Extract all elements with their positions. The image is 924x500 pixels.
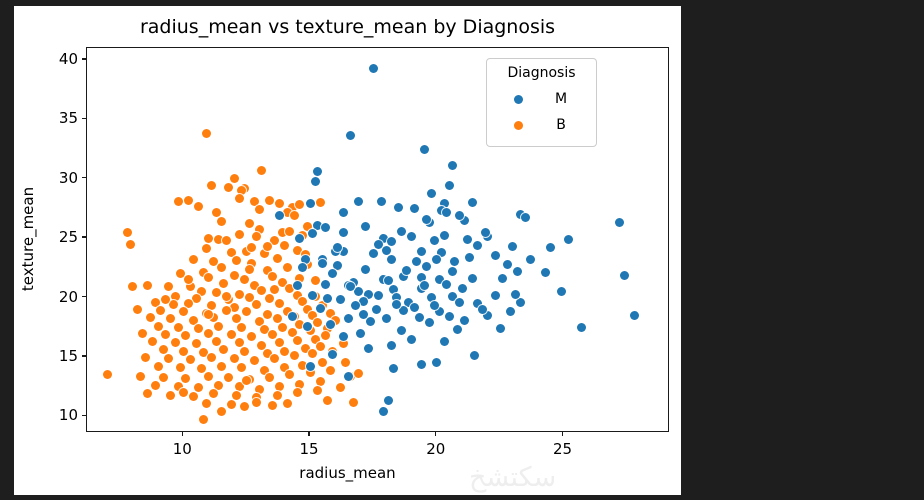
data-point-b (232, 314, 241, 323)
data-point-b (295, 200, 304, 209)
data-point-b (181, 374, 190, 383)
data-point-m (364, 344, 373, 353)
y-tick-label: 20 (59, 288, 78, 306)
data-point-m (526, 255, 535, 264)
data-point-m (453, 325, 462, 334)
data-point-m (387, 237, 396, 246)
data-point-m (328, 269, 337, 278)
data-point-m (442, 208, 451, 217)
data-point-b (230, 271, 239, 280)
data-point-b (270, 354, 279, 363)
data-point-b (166, 391, 175, 400)
data-point-m (577, 323, 586, 332)
data-point-m (298, 263, 307, 272)
data-point-b (169, 300, 178, 309)
data-point-m (359, 310, 368, 319)
x-axis-label: radius_mean (14, 464, 681, 482)
x-tick-mark (182, 432, 183, 436)
data-point-m (420, 281, 429, 290)
data-point-m (399, 306, 408, 315)
data-point-m (387, 341, 396, 350)
y-tick-mark (82, 58, 86, 59)
data-point-m (455, 298, 464, 307)
data-point-m (521, 213, 530, 222)
data-point-m (513, 267, 522, 276)
data-point-b (204, 234, 213, 243)
data-point-b (143, 389, 152, 398)
data-point-m (293, 281, 302, 290)
data-point-b (194, 383, 203, 392)
data-point-b (212, 208, 221, 217)
y-tick-label: 10 (59, 406, 78, 424)
data-point-b (192, 339, 201, 348)
data-point-m (321, 223, 330, 232)
data-point-m (463, 235, 472, 244)
y-tick-label: 35 (59, 109, 78, 127)
data-point-b (278, 323, 287, 332)
data-point-b (222, 306, 231, 315)
data-point-m (420, 145, 429, 154)
matplotlib-figure: radius_mean vs texture_mean by Diagnosis… (14, 6, 681, 495)
data-point-b (164, 282, 173, 291)
data-point-b (227, 330, 236, 339)
data-point-b (174, 197, 183, 206)
data-point-m (478, 305, 487, 314)
data-point-m (448, 161, 457, 170)
data-point-b (280, 241, 289, 250)
data-point-b (235, 338, 244, 347)
data-point-b (151, 381, 160, 390)
data-point-b (326, 366, 335, 375)
data-point-b (217, 263, 226, 272)
screenshot-root: radius_mean vs texture_mean by Diagnosis… (0, 0, 924, 500)
data-point-m (295, 234, 304, 243)
data-point-b (146, 313, 155, 322)
data-point-m (339, 332, 348, 341)
data-point-m (382, 314, 391, 323)
data-point-b (321, 331, 330, 340)
data-point-b (275, 338, 284, 347)
legend-entry-b[interactable]: B (495, 112, 588, 138)
data-point-b (156, 306, 165, 315)
data-point-m (615, 218, 624, 227)
data-point-m (422, 262, 431, 271)
data-point-m (394, 203, 403, 212)
data-point-b (164, 354, 173, 363)
data-point-b (133, 305, 142, 314)
data-point-b (212, 337, 221, 346)
data-point-m (422, 215, 431, 224)
y-tick-mark (82, 355, 86, 356)
legend-label: B (541, 117, 581, 133)
data-point-m (346, 131, 355, 140)
data-point-b (235, 290, 244, 299)
data-point-m (511, 290, 520, 299)
data-point-b (189, 392, 198, 401)
data-point-b (283, 399, 292, 408)
data-point-b (242, 307, 251, 316)
y-tick-mark (82, 415, 86, 416)
data-point-m (498, 274, 507, 283)
data-point-b (308, 349, 317, 358)
data-point-m (351, 301, 360, 310)
data-point-b (237, 323, 246, 332)
data-point-b (250, 356, 259, 365)
data-point-b (247, 332, 256, 341)
data-point-b (285, 227, 294, 236)
data-point-m (425, 318, 434, 327)
legend-swatch-wrap (495, 95, 541, 104)
data-point-m (339, 208, 348, 217)
data-point-b (252, 398, 261, 407)
data-point-b (143, 281, 152, 290)
data-point-m (407, 232, 416, 241)
legend-title: Diagnosis (495, 65, 588, 81)
data-point-m (620, 271, 629, 280)
data-point-b (240, 275, 249, 284)
data-point-b (204, 372, 213, 381)
data-point-b (257, 166, 266, 175)
data-point-m (440, 337, 449, 346)
data-point-m (450, 257, 459, 266)
data-point-m (356, 329, 365, 338)
data-point-b (207, 353, 216, 362)
data-point-b (257, 286, 266, 295)
data-point-m (448, 267, 457, 276)
data-point-m (410, 303, 419, 312)
data-point-m (379, 407, 388, 416)
data-point-b (270, 285, 279, 294)
data-point-b (194, 202, 203, 211)
data-point-m (354, 287, 363, 296)
data-point-b (212, 288, 221, 297)
data-point-m (366, 317, 375, 326)
data-point-b (232, 256, 241, 265)
data-point-m (412, 257, 421, 266)
data-point-b (154, 362, 163, 371)
y-axis-label: texture_mean (19, 187, 37, 291)
data-point-b (263, 310, 272, 319)
data-point-m (465, 253, 474, 262)
data-point-m (344, 372, 353, 381)
data-point-b (179, 388, 188, 397)
data-point-m (415, 313, 424, 322)
data-point-b (176, 363, 185, 372)
data-point-b (197, 364, 206, 373)
data-point-m (308, 229, 317, 238)
data-point-b (136, 372, 145, 381)
data-point-m (316, 304, 325, 313)
x-tick-label: 10 (173, 440, 192, 458)
data-point-m (369, 64, 378, 73)
data-point-b (194, 324, 203, 333)
data-point-b (202, 244, 211, 253)
data-point-b (313, 386, 322, 395)
data-point-b (252, 232, 261, 241)
data-point-b (290, 211, 299, 220)
data-point-b (214, 322, 223, 331)
data-point-m (336, 295, 345, 304)
data-point-b (252, 300, 261, 309)
data-point-b (171, 338, 180, 347)
data-point-m (541, 268, 550, 277)
data-point-m (460, 316, 469, 325)
data-point-m (306, 199, 315, 208)
y-tick-mark (82, 296, 86, 297)
data-point-m (361, 222, 370, 231)
data-point-b (204, 310, 213, 319)
data-point-b (123, 228, 132, 237)
data-point-b (275, 299, 284, 308)
data-point-b (245, 219, 254, 228)
data-point-m (397, 326, 406, 335)
data-point-b (159, 373, 168, 382)
data-point-b (268, 272, 277, 281)
chart-title: radius_mean vs texture_mean by Diagnosis (14, 16, 681, 38)
data-point-b (316, 342, 325, 351)
data-point-b (174, 323, 183, 332)
data-point-m (440, 231, 449, 240)
data-point-m (557, 287, 566, 296)
data-point-m (430, 236, 439, 245)
data-point-m (432, 255, 441, 264)
data-point-m (481, 228, 490, 237)
data-point-b (263, 242, 272, 251)
data-point-m (491, 291, 500, 300)
data-point-m (473, 241, 482, 250)
data-point-b (235, 194, 244, 203)
data-point-m (392, 300, 401, 309)
data-point-m (546, 243, 555, 252)
data-point-b (204, 329, 213, 338)
data-point-b (161, 330, 170, 339)
data-point-b (349, 398, 358, 407)
x-tick-mark (435, 432, 436, 436)
data-point-b (313, 318, 322, 327)
data-point-b (217, 362, 226, 371)
data-point-m (442, 280, 451, 289)
data-point-b (181, 331, 190, 340)
data-point-m (318, 259, 327, 268)
data-point-b (268, 330, 277, 339)
data-point-m (427, 189, 436, 198)
data-point-b (217, 217, 226, 226)
data-point-b (275, 382, 284, 391)
data-point-m (402, 266, 411, 275)
data-point-m (384, 396, 393, 405)
data-point-m (516, 298, 525, 307)
data-point-b (224, 183, 233, 192)
watermark-text: سكتشخ (469, 462, 556, 493)
data-point-m (564, 235, 573, 244)
x-tick-label: 15 (300, 440, 319, 458)
y-tick-label: 40 (59, 50, 78, 68)
data-point-m (361, 265, 370, 274)
data-point-m (445, 312, 454, 321)
data-point-b (273, 314, 282, 323)
data-point-m (503, 260, 512, 269)
data-point-m (432, 358, 441, 367)
data-point-b (184, 196, 193, 205)
legend-swatch-wrap (495, 121, 541, 130)
data-point-b (323, 396, 332, 405)
data-point-m (468, 198, 477, 207)
data-point-m (417, 360, 426, 369)
legend-marker-icon (514, 121, 523, 130)
data-point-b (235, 230, 244, 239)
data-point-b (336, 383, 345, 392)
data-point-m (311, 177, 320, 186)
data-point-m (630, 311, 639, 320)
data-point-b (341, 358, 350, 367)
legend-entries: MB (495, 86, 588, 138)
data-point-b (128, 282, 137, 291)
y-tick-mark (82, 118, 86, 119)
data-point-m (496, 324, 505, 333)
y-tick-label: 25 (59, 228, 78, 246)
data-point-m (354, 197, 363, 206)
data-point-b (202, 129, 211, 138)
y-tick-mark (82, 177, 86, 178)
data-point-m (321, 280, 330, 289)
data-point-m (468, 274, 477, 283)
data-point-b (179, 307, 188, 316)
data-point-m (275, 211, 284, 220)
data-point-b (293, 388, 302, 397)
x-tick-label: 25 (553, 440, 572, 458)
data-point-b (202, 399, 211, 408)
data-point-b (240, 402, 249, 411)
chart-legend[interactable]: Diagnosis MB (486, 58, 597, 147)
data-point-m (387, 255, 396, 264)
data-point-m (306, 362, 315, 371)
data-point-m (506, 307, 515, 316)
data-point-m (417, 247, 426, 256)
data-point-m (389, 364, 398, 373)
data-point-b (273, 254, 282, 263)
data-point-b (222, 292, 231, 301)
data-point-b (126, 240, 135, 249)
data-point-b (103, 370, 112, 379)
data-point-m (445, 181, 454, 190)
data-point-b (148, 337, 157, 346)
data-point-b (285, 370, 294, 379)
data-point-m (374, 291, 383, 300)
data-point-b (265, 373, 274, 382)
data-point-m (369, 249, 378, 258)
data-point-m (344, 314, 353, 323)
data-point-m (377, 197, 386, 206)
data-point-b (199, 415, 208, 424)
data-point-m (410, 204, 419, 213)
data-point-b (154, 322, 163, 331)
data-point-m (382, 246, 391, 255)
data-point-b (219, 279, 228, 288)
data-point-b (275, 199, 284, 208)
data-point-b (265, 294, 274, 303)
data-point-b (141, 353, 150, 362)
y-tick-label: 30 (59, 169, 78, 187)
data-point-m (323, 294, 332, 303)
data-point-b (255, 205, 264, 214)
data-point-b (245, 265, 254, 274)
data-point-m (508, 242, 517, 251)
data-point-b (219, 345, 228, 354)
data-point-b (316, 198, 325, 207)
data-point-b (230, 174, 239, 183)
data-point-b (209, 389, 218, 398)
data-point-b (138, 329, 147, 338)
data-point-b (179, 347, 188, 356)
data-point-b (207, 181, 216, 190)
data-point-b (293, 336, 302, 345)
data-point-b (280, 347, 289, 356)
data-point-m (397, 227, 406, 236)
data-point-m (313, 167, 322, 176)
legend-entry-m[interactable]: M (495, 86, 588, 112)
data-point-b (230, 354, 239, 363)
data-point-b (311, 276, 320, 285)
data-point-m (359, 297, 368, 306)
data-point-m (372, 305, 381, 314)
data-point-m (328, 350, 337, 359)
y-tick-label: 15 (59, 347, 78, 365)
data-point-m (407, 335, 416, 344)
data-point-m (303, 322, 312, 331)
data-point-b (217, 407, 226, 416)
data-point-m (288, 312, 297, 321)
data-point-b (166, 314, 175, 323)
x-tick-mark (308, 432, 309, 436)
data-point-b (290, 351, 299, 360)
data-point-m (384, 276, 393, 285)
data-point-m (326, 320, 335, 329)
data-point-b (159, 345, 168, 354)
data-point-m (308, 291, 317, 300)
data-point-b (186, 355, 195, 364)
data-point-b (318, 358, 327, 367)
data-point-b (273, 391, 282, 400)
data-point-b (354, 369, 363, 378)
legend-marker-icon (514, 95, 523, 104)
data-point-b (257, 341, 266, 350)
data-point-b (204, 273, 213, 282)
data-point-b (189, 255, 198, 264)
data-point-b (237, 363, 246, 372)
data-point-m (339, 228, 348, 237)
data-point-b (247, 243, 256, 252)
data-point-b (265, 196, 274, 205)
data-point-m (458, 284, 467, 293)
y-tick-mark (82, 236, 86, 237)
data-point-m (491, 251, 500, 260)
legend-label: M (541, 91, 581, 107)
data-point-b (227, 400, 236, 409)
x-tick-label: 20 (426, 440, 445, 458)
data-point-b (232, 391, 241, 400)
data-point-b (268, 401, 277, 410)
data-point-b (224, 373, 233, 382)
data-point-b (240, 347, 249, 356)
data-point-b (222, 236, 231, 245)
data-point-b (283, 263, 292, 272)
data-point-m (470, 351, 479, 360)
x-tick-mark (562, 432, 563, 436)
